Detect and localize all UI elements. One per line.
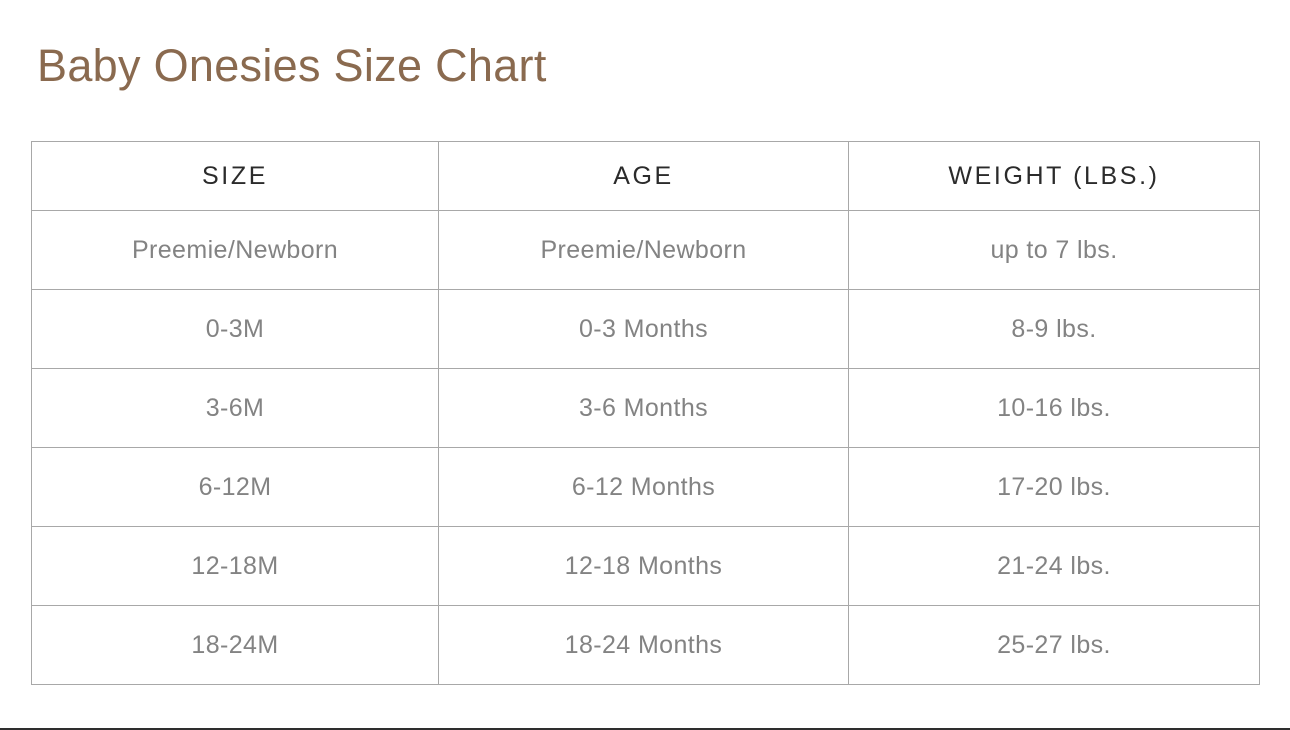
table-header: SIZE AGE WEIGHT (LBS.) xyxy=(32,142,1260,211)
size-chart-page: Baby Onesies Size Chart SIZE AGE WEIGHT … xyxy=(0,0,1290,730)
table-row: Preemie/Newborn Preemie/Newborn up to 7 … xyxy=(32,211,1260,290)
table-row: 6-12M 6-12 Months 17-20 lbs. xyxy=(32,448,1260,527)
cell-weight: 17-20 lbs. xyxy=(849,448,1260,527)
cell-size: 0-3M xyxy=(32,290,439,369)
cell-age: 12-18 Months xyxy=(439,527,849,606)
cell-size: 18-24M xyxy=(32,606,439,685)
table-row: 3-6M 3-6 Months 10-16 lbs. xyxy=(32,369,1260,448)
table-row: 18-24M 18-24 Months 25-27 lbs. xyxy=(32,606,1260,685)
cell-age: 0-3 Months xyxy=(439,290,849,369)
size-chart-table: SIZE AGE WEIGHT (LBS.) Preemie/Newborn P… xyxy=(31,141,1260,685)
cell-age: Preemie/Newborn xyxy=(439,211,849,290)
cell-age: 3-6 Months xyxy=(439,369,849,448)
column-header-age: AGE xyxy=(439,142,849,211)
cell-age: 18-24 Months xyxy=(439,606,849,685)
table-header-row: SIZE AGE WEIGHT (LBS.) xyxy=(32,142,1260,211)
cell-weight: 25-27 lbs. xyxy=(849,606,1260,685)
cell-size: 3-6M xyxy=(32,369,439,448)
cell-weight: 21-24 lbs. xyxy=(849,527,1260,606)
cell-weight: up to 7 lbs. xyxy=(849,211,1260,290)
table-row: 0-3M 0-3 Months 8-9 lbs. xyxy=(32,290,1260,369)
page-title: Baby Onesies Size Chart xyxy=(37,38,547,94)
cell-age: 6-12 Months xyxy=(439,448,849,527)
cell-weight: 10-16 lbs. xyxy=(849,369,1260,448)
column-header-size: SIZE xyxy=(32,142,439,211)
cell-weight: 8-9 lbs. xyxy=(849,290,1260,369)
size-chart-table-container: SIZE AGE WEIGHT (LBS.) Preemie/Newborn P… xyxy=(31,141,1259,675)
table-body: Preemie/Newborn Preemie/Newborn up to 7 … xyxy=(32,211,1260,685)
cell-size: 6-12M xyxy=(32,448,439,527)
cell-size: 12-18M xyxy=(32,527,439,606)
table-row: 12-18M 12-18 Months 21-24 lbs. xyxy=(32,527,1260,606)
cell-size: Preemie/Newborn xyxy=(32,211,439,290)
column-header-weight: WEIGHT (LBS.) xyxy=(849,142,1260,211)
